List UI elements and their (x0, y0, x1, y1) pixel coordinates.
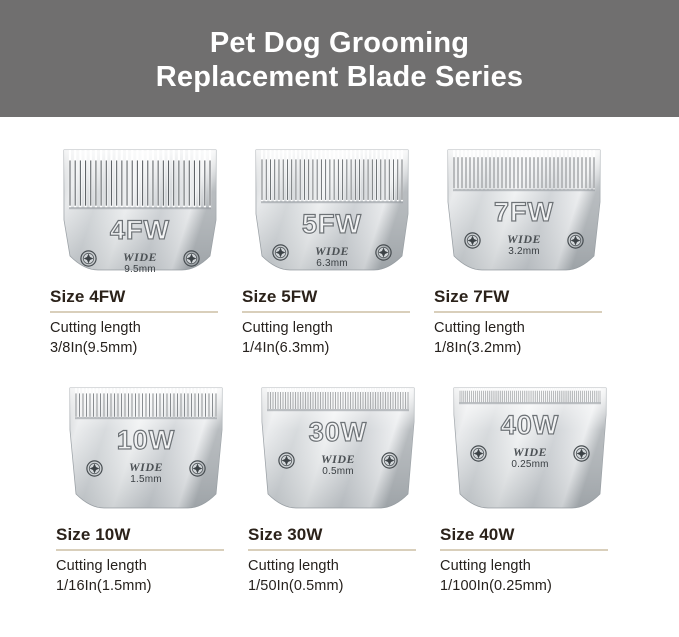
blade-graphic: 7FW WIDE 3.2mm (442, 148, 606, 280)
product-info-30w: Size 30W Cutting length 1/50In(0.5mm) (242, 524, 434, 596)
title-underline (242, 311, 410, 313)
blade-screw-icon (80, 250, 97, 267)
title-underline (56, 549, 224, 551)
blade-size-marking: 30W (256, 418, 420, 447)
cutting-length-value: 3/8In(9.5mm) (50, 338, 222, 358)
cutting-length-label: Cutting length (248, 556, 420, 576)
product-info-5fw: Size 5FW Cutting length 1/4In(6.3mm) (236, 286, 428, 358)
product-title: Size 4FW (50, 286, 222, 307)
blade-graphic: 5FW WIDE 6.3mm (250, 148, 414, 280)
cutting-length-label: Cutting length (242, 318, 414, 338)
blade-image-40w: 40W WIDE 0.25mm (434, 373, 626, 518)
product-card-10w: 10W WIDE 1.5mm Size 10W Cutting length 1… (50, 373, 242, 596)
blade-graphic: 30W WIDE 0.5mm (256, 386, 420, 518)
cutting-length-label: Cutting length (440, 556, 612, 576)
blade-screw-icon (86, 460, 103, 477)
blade-screw-icon (375, 244, 392, 261)
title-underline (440, 549, 608, 551)
blade-image-30w: 30W WIDE 0.5mm (242, 373, 434, 518)
blade-screw-icon (272, 244, 289, 261)
cutting-length-label: Cutting length (50, 318, 222, 338)
title-underline (434, 311, 602, 313)
blade-screw-icon (464, 232, 481, 249)
product-card-7fw: 7FW WIDE 3.2mm Size 7FW Cutting length 1… (428, 135, 620, 358)
product-title: Size 7FW (434, 286, 606, 307)
product-card-4fw: 4FW WIDE 9.5mm Size 4FW Cutting length 3… (44, 135, 236, 358)
blade-screw-icon (381, 452, 398, 469)
cutting-length-value: 1/8In(3.2mm) (434, 338, 606, 358)
blade-graphic: 40W WIDE 0.25mm (448, 386, 612, 518)
blade-size-marking: 7FW (442, 198, 606, 227)
blade-size-marking: 40W (448, 411, 612, 440)
product-title: Size 5FW (242, 286, 414, 307)
blade-screw-icon (567, 232, 584, 249)
product-title: Size 40W (440, 524, 612, 545)
cutting-length-value: 1/50In(0.5mm) (248, 576, 420, 596)
blade-screw-icon (183, 250, 200, 267)
product-row-bottom: 10W WIDE 1.5mm Size 10W Cutting length 1… (0, 358, 679, 596)
blade-size-marking: 5FW (250, 210, 414, 239)
product-info-10w: Size 10W Cutting length 1/16In(1.5mm) (50, 524, 242, 596)
product-title: Size 30W (248, 524, 420, 545)
blade-image-10w: 10W WIDE 1.5mm (50, 373, 242, 518)
header-banner: Pet Dog Grooming Replacement Blade Serie… (0, 0, 679, 117)
product-info-40w: Size 40W Cutting length 1/100In(0.25mm) (434, 524, 626, 596)
product-card-5fw: 5FW WIDE 6.3mm Size 5FW Cutting length 1… (236, 135, 428, 358)
product-card-30w: 30W WIDE 0.5mm Size 30W Cutting length 1… (242, 373, 434, 596)
blade-screw-icon (189, 460, 206, 477)
blade-screw-icon (573, 445, 590, 462)
blade-screw-icon (470, 445, 487, 462)
blade-screw-icon (278, 452, 295, 469)
product-row-top: 4FW WIDE 9.5mm Size 4FW Cutting length 3… (0, 117, 679, 358)
product-grid: 4FW WIDE 9.5mm Size 4FW Cutting length 3… (0, 117, 679, 596)
cutting-length-value: 1/16In(1.5mm) (56, 576, 228, 596)
product-info-7fw: Size 7FW Cutting length 1/8In(3.2mm) (428, 286, 620, 358)
cutting-length-label: Cutting length (434, 318, 606, 338)
banner-title-line-1: Pet Dog Grooming (210, 26, 469, 60)
blade-image-7fw: 7FW WIDE 3.2mm (428, 135, 620, 280)
blade-size-marking: 4FW (58, 216, 222, 245)
product-title: Size 10W (56, 524, 228, 545)
blade-image-5fw: 5FW WIDE 6.3mm (236, 135, 428, 280)
blade-graphic: 10W WIDE 1.5mm (64, 386, 228, 518)
blade-graphic: 4FW WIDE 9.5mm (58, 148, 222, 280)
cutting-length-value: 1/100In(0.25mm) (440, 576, 612, 596)
blade-image-4fw: 4FW WIDE 9.5mm (44, 135, 236, 280)
cutting-length-value: 1/4In(6.3mm) (242, 338, 414, 358)
title-underline (50, 311, 218, 313)
banner-title-line-2: Replacement Blade Series (156, 60, 523, 94)
product-info-4fw: Size 4FW Cutting length 3/8In(9.5mm) (44, 286, 236, 358)
product-card-40w: 40W WIDE 0.25mm Size 40W Cutting length … (434, 373, 626, 596)
title-underline (248, 549, 416, 551)
blade-size-marking: 10W (64, 426, 228, 455)
cutting-length-label: Cutting length (56, 556, 228, 576)
